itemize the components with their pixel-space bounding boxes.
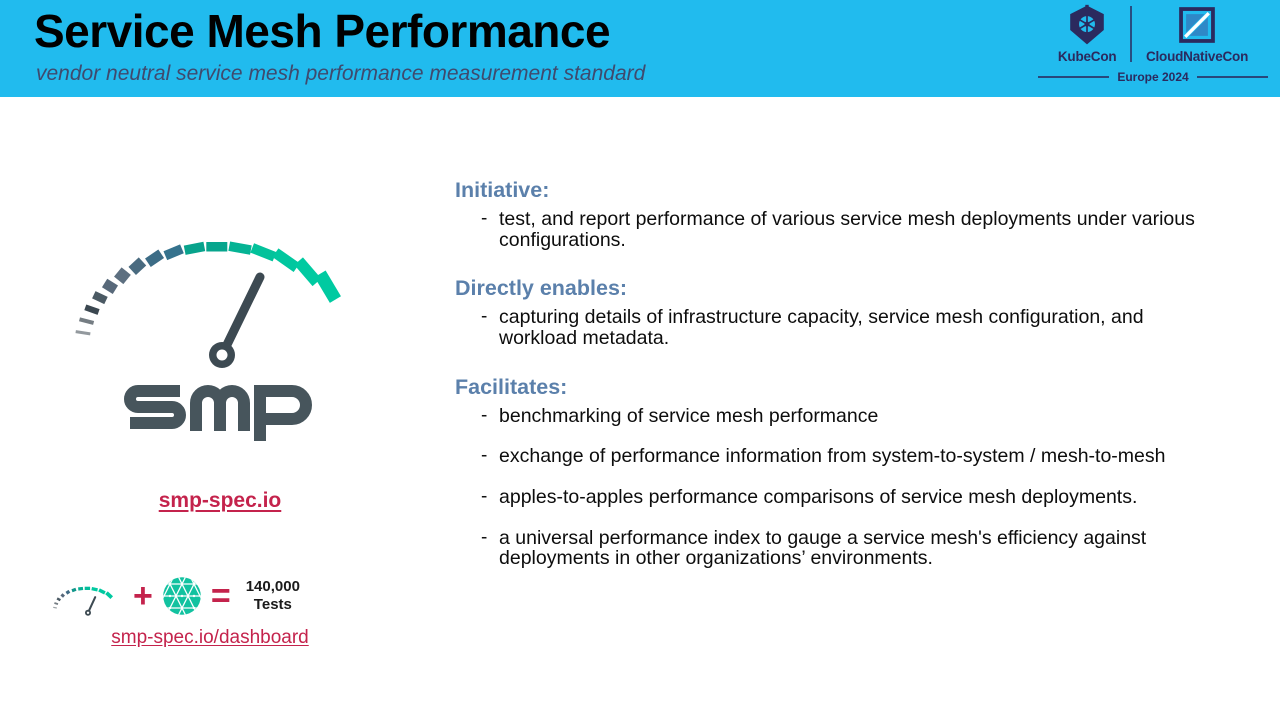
tests-equation: + = 14: [52, 565, 392, 627]
gauge-icon-small: [52, 572, 124, 620]
smp-wordmark: [0, 379, 440, 446]
list-item: - test, and report performance of variou…: [455, 209, 1245, 250]
bullet-marker: -: [455, 406, 499, 427]
tests-label: Tests: [246, 596, 300, 614]
bullet-marker: -: [455, 209, 499, 230]
smp-spec-link[interactable]: smp-spec.io: [0, 489, 440, 513]
kubernetes-helm-icon: [1066, 4, 1108, 46]
edition-rule-right: [1197, 76, 1268, 78]
section-initiative: Initiative: - test, and report performan…: [455, 178, 1245, 250]
cloudnativecon-block: CloudNativeCon: [1132, 4, 1262, 64]
bullet-text: apples-to-apples performance comparisons…: [499, 487, 1137, 508]
list-item: - apples-to-apples performance compariso…: [455, 487, 1245, 508]
cncf-square-icon: [1176, 4, 1218, 46]
bullet-text: capturing details of infrastructure capa…: [499, 307, 1199, 348]
list-item: - benchmarking of service mesh performan…: [455, 406, 1245, 427]
smp-dashboard-link[interactable]: smp-spec.io/dashboard: [0, 627, 420, 649]
slide-header-banner: Service Mesh Performance vendor neutral …: [0, 0, 1280, 97]
bullet-text: exchange of performance information from…: [499, 446, 1166, 467]
list-item: - exchange of performance information fr…: [455, 446, 1245, 467]
gauge-needle: [209, 277, 260, 368]
equals-operator: =: [211, 579, 231, 613]
bullet-text: benchmarking of service mesh performance: [499, 406, 878, 427]
kubecon-cloudnativecon-logo: KubeCon CloudNativeCon Europe 2024: [1038, 4, 1268, 94]
list-item: - capturing details of infrastructure ca…: [455, 307, 1245, 348]
smp-logo-icon: [124, 379, 316, 441]
bullet-text: a universal performance index to gauge a…: [499, 528, 1199, 569]
performance-gauge-icon: [72, 205, 372, 370]
section-heading-facilitates: Facilitates:: [455, 375, 1245, 400]
bullet-text: test, and report performance of various …: [499, 209, 1199, 250]
list-item: - a universal performance index to gauge…: [455, 528, 1245, 569]
section-directly-enables: Directly enables: - capturing details of…: [455, 276, 1245, 348]
left-branding-column: smp-spec.io: [0, 97, 440, 720]
tests-result: 140,000 Tests: [246, 578, 300, 613]
bullet-marker: -: [455, 528, 499, 549]
cloudnativecon-label: CloudNativeCon: [1146, 49, 1248, 64]
kubecon-label: KubeCon: [1058, 49, 1117, 64]
bullet-marker: -: [455, 446, 499, 467]
edition-label: Europe 2024: [1117, 70, 1188, 84]
logo-divider: [1130, 6, 1132, 62]
logo-edition-row: Europe 2024: [1038, 70, 1268, 84]
bullet-list-facilitates: - benchmarking of service mesh performan…: [455, 406, 1245, 569]
kubecon-block: KubeCon: [1044, 4, 1131, 64]
section-facilitates: Facilitates: - benchmarking of service m…: [455, 375, 1245, 569]
logo-marks-row: KubeCon CloudNativeCon: [1038, 4, 1268, 72]
meshery-mesh-icon: [162, 576, 202, 616]
section-heading-directly-enables: Directly enables:: [455, 276, 1245, 301]
bullet-marker: -: [455, 307, 499, 328]
page-title: Service Mesh Performance: [34, 6, 610, 57]
tests-count: 140,000: [246, 578, 300, 596]
plus-operator: +: [133, 579, 153, 613]
content-column: Initiative: - test, and report performan…: [455, 178, 1245, 589]
bullet-marker: -: [455, 487, 499, 508]
page-subtitle: vendor neutral service mesh performance …: [36, 62, 645, 85]
bullet-list-initiative: - test, and report performance of variou…: [455, 209, 1245, 250]
edition-rule-left: [1038, 76, 1109, 78]
bullet-list-directly-enables: - capturing details of infrastructure ca…: [455, 307, 1245, 348]
section-heading-initiative: Initiative:: [455, 178, 1245, 203]
